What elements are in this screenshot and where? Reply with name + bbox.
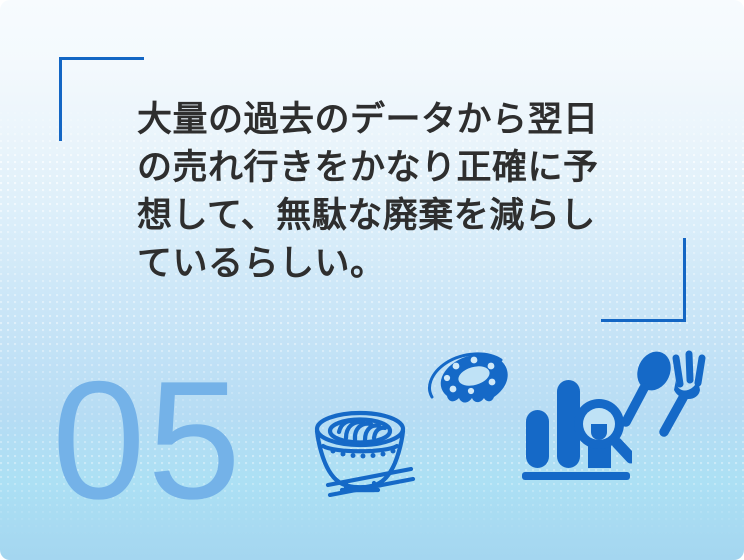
step-number: 05 bbox=[52, 356, 243, 524]
headline-line-1: 大量の過去のデータから翌日 bbox=[137, 96, 607, 144]
headline-text: 大量の過去のデータから翌日 の売れ行きをかなり正確に予 想して、無駄な廃棄を減ら… bbox=[137, 96, 607, 288]
headline-line-4: ているらしい。 bbox=[137, 240, 607, 288]
ramen-bowl-icon bbox=[308, 398, 420, 498]
headline-line-3: 想して、無駄な廃棄を減らし bbox=[137, 192, 607, 240]
illustration-group bbox=[300, 336, 720, 526]
corner-bracket-bottom-right bbox=[601, 238, 686, 322]
corner-bracket-top-left bbox=[59, 57, 144, 141]
headline-line-2: の売れ行きをかなり正確に予 bbox=[137, 144, 607, 192]
info-card: 大量の過去のデータから翌日 の売れ行きをかなり正確に予 想して、無駄な廃棄を減ら… bbox=[0, 0, 744, 560]
bar-chart-magnifier-icon bbox=[522, 372, 632, 482]
donut-icon bbox=[422, 340, 516, 430]
spoon-fork-icon bbox=[618, 350, 714, 450]
